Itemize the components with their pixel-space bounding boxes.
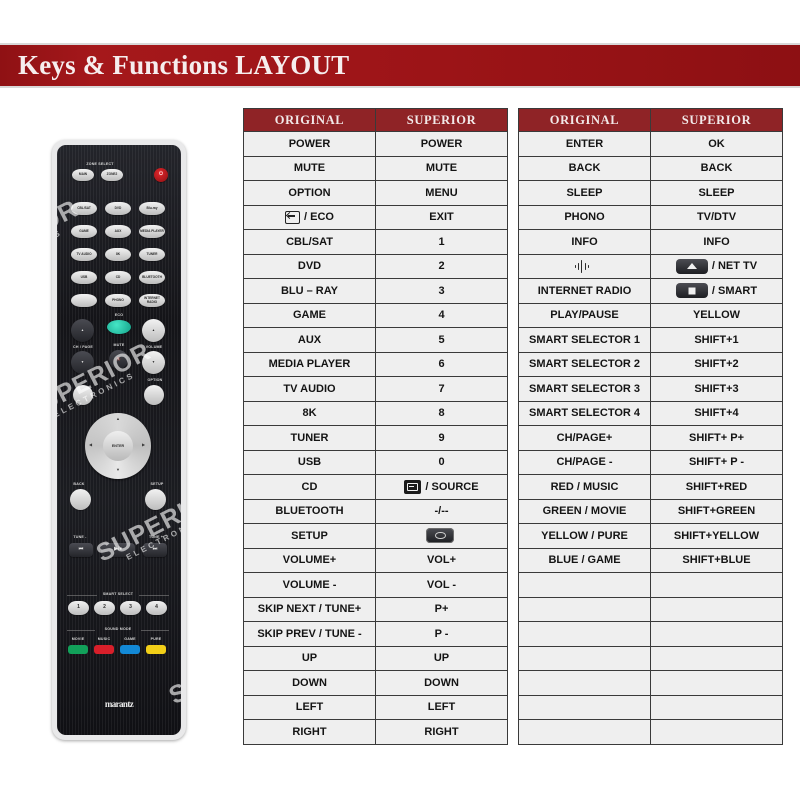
cell-superior: 2 (376, 254, 508, 279)
table-row: RIGHTRIGHT (244, 720, 508, 745)
remote-back-label: BACK (66, 482, 92, 486)
remote-ch-page-down-button[interactable]: ▼ (71, 351, 94, 374)
cell-superior: SHIFT+ P - (651, 450, 783, 475)
remote-face: ZONE SELECT MAIN ZONE2 ⏻ CBL/SAT DVD Blu… (57, 145, 181, 735)
cell-superior-text: DOWN (424, 677, 459, 689)
cell-original-text: VOLUME - (283, 579, 337, 591)
cell-original (519, 597, 651, 622)
cell-superior: YELLOW (651, 303, 783, 328)
remote-smart-select-1[interactable]: 1 (68, 601, 89, 615)
remote-mute-label: MUTE (105, 343, 133, 347)
remote-sound-mode-pure-button[interactable] (146, 645, 166, 654)
remote-eco-label: ECO (106, 313, 132, 317)
cell-original: TUNER (244, 426, 376, 451)
cell-original (519, 622, 651, 647)
dpad-left-icon[interactable]: ◀ (89, 443, 92, 447)
remote-setup-button[interactable] (145, 489, 166, 510)
cell-original-text: UP (302, 652, 317, 664)
cell-original-text: / ECO (304, 211, 334, 223)
table-row: PLAY/PAUSEYELLOW (519, 303, 783, 328)
cell-original: SLEEP (519, 181, 651, 206)
cell-original-text: SMART SELECTOR 1 (529, 334, 640, 346)
source-filled-icon (404, 480, 421, 494)
cell-superior-text: SHIFT+1 (694, 334, 738, 346)
cell-superior-text: SHIFT+BLUE (682, 554, 750, 566)
cell-superior-text: INFO (703, 236, 729, 248)
remote-sound-mode-movie-button[interactable] (68, 645, 88, 654)
remote-button-8k[interactable]: 8K (105, 248, 131, 261)
cell-superior: SHIFT+BLUE (651, 548, 783, 573)
cell-original: RED / MUSIC (519, 475, 651, 500)
source-outline-icon (285, 211, 300, 224)
cell-original: INTERNET RADIO (519, 279, 651, 304)
table-row: VOLUME+VOL+ (244, 548, 508, 573)
cell-superior-text: / SOURCE (425, 481, 478, 493)
table-row: BLU – RAY3 (244, 279, 508, 304)
table-row (519, 646, 783, 671)
cell-superior-text: / NET TV (712, 260, 757, 272)
table-row: POWERPOWER (244, 132, 508, 157)
table-row: OPTIONMENU (244, 181, 508, 206)
cell-superior-text: SHIFT+3 (694, 383, 738, 395)
cell-original-text: MEDIA PLAYER (269, 358, 351, 370)
remote-button-internet-radio[interactable]: INTERNET RADIO (139, 294, 165, 307)
remote-control-image: ZONE SELECT MAIN ZONE2 ⏻ CBL/SAT DVD Blu… (52, 140, 186, 740)
dpad-up-icon[interactable]: ▲ (116, 417, 120, 421)
table-row: INTERNET RADIO/ SMART (519, 279, 783, 304)
table-row: 8K8 (244, 401, 508, 426)
cell-original-text: SMART SELECTOR 2 (529, 358, 640, 370)
remote-volume-label: VOLUME (139, 345, 169, 349)
table-row: TV AUDIO7 (244, 377, 508, 402)
remote-sound-mode-game-button[interactable] (120, 645, 140, 654)
remote-button-tv-audio[interactable]: TV AUDIO (71, 248, 97, 261)
cell-original: SMART SELECTOR 3 (519, 377, 651, 402)
cell-superior-text: SHIFT+4 (694, 407, 738, 419)
cell-superior-text: 1 (438, 236, 444, 248)
key-triangle-icon (676, 259, 708, 274)
table-row: PHONOTV/DTV (519, 205, 783, 230)
cell-superior: RIGHT (376, 720, 508, 745)
remote-button-phono[interactable]: PHONO (105, 294, 131, 307)
remote-button-tuner[interactable]: TUNER (139, 248, 165, 261)
cell-superior-text: / SMART (712, 285, 757, 297)
cell-original-text: BLUETOOTH (275, 505, 343, 517)
cell-superior-text: OK (708, 138, 725, 150)
cell-superior-text: P - (435, 628, 449, 640)
table-left-body: POWERPOWERMUTEMUTEOPTIONMENU/ ECOEXITCBL… (244, 132, 508, 745)
cell-original: TV AUDIO (244, 377, 376, 402)
remote-tune-minus-label: TUNE - (67, 535, 93, 539)
cell-superior-text: 4 (438, 309, 444, 321)
table-header-row: ORIGINAL SUPERIOR (519, 109, 783, 132)
cell-original-text: DOWN (292, 677, 327, 689)
remote-volume-down-button[interactable]: ▼ (142, 351, 165, 374)
cell-superior: 7 (376, 377, 508, 402)
cell-superior-text: SHIFT+ P - (689, 456, 744, 468)
table-row: UPUP (244, 646, 508, 671)
table-row: SKIP PREV / TUNE -P - (244, 622, 508, 647)
table-row (519, 671, 783, 696)
cell-original (519, 573, 651, 598)
cell-original-text: GREEN / MOVIE (543, 505, 627, 517)
cell-superior (651, 573, 783, 598)
table-row: SETUP (244, 524, 508, 549)
table-row: SMART SELECTOR 2SHIFT+2 (519, 352, 783, 377)
table-row: SKIP NEXT / TUNE+P+ (244, 597, 508, 622)
cell-superior: MENU (376, 181, 508, 206)
cell-original-text: MUTE (294, 162, 325, 174)
table-row: / ECOEXIT (244, 205, 508, 230)
key-square-icon (676, 283, 708, 298)
cell-superior: SHIFT+1 (651, 328, 783, 353)
cell-original: POWER (244, 132, 376, 157)
cell-superior-text: 6 (438, 358, 444, 370)
cell-superior: SHIFT+2 (651, 352, 783, 377)
cell-original: BLUE / GAME (519, 548, 651, 573)
mic-levels-icon (575, 260, 591, 273)
cell-original-text: CBL/SAT (286, 236, 333, 248)
cell-original: CH/PAGE+ (519, 426, 651, 451)
cell-original (519, 695, 651, 720)
table-row: USB0 (244, 450, 508, 475)
remote-tune-plus-label: TUNE + (143, 535, 169, 539)
cell-superior: 1 (376, 230, 508, 255)
cell-original: MUTE (244, 156, 376, 181)
remote-back-button[interactable] (70, 489, 91, 510)
cell-original-text: BLUE / GAME (548, 554, 620, 566)
cell-original: YELLOW / PURE (519, 524, 651, 549)
cell-superior: 6 (376, 352, 508, 377)
cell-original: BLU – RAY (244, 279, 376, 304)
cell-superior: VOL - (376, 573, 508, 598)
dpad-down-icon[interactable]: ▼ (116, 468, 120, 472)
cell-original-text: INFO (571, 236, 597, 248)
cell-superior-text: BACK (701, 162, 733, 174)
remote-button-bluetooth[interactable]: BLUETOOTH (139, 271, 165, 284)
cell-original-text: INTERNET RADIO (538, 285, 632, 297)
cell-superior: 9 (376, 426, 508, 451)
remote-ch-page-up-button[interactable]: ▲ (71, 319, 94, 342)
cell-superior-text: VOL+ (427, 554, 456, 566)
cell-superior (651, 597, 783, 622)
table-row: CH/PAGE -SHIFT+ P - (519, 450, 783, 475)
cell-superior (651, 720, 783, 745)
cell-original-text: BLU – RAY (281, 285, 338, 297)
remote-smart-select-label: SMART SELECT (95, 592, 141, 596)
cell-original-text: SKIP PREV / TUNE - (257, 628, 361, 640)
table-right-body: ENTEROKBACKBACKSLEEPSLEEPPHONOTV/DTVINFO… (519, 132, 783, 745)
remote-button-media-player[interactable]: MEDIA PLAYER (139, 225, 165, 238)
cell-original: DVD (244, 254, 376, 279)
remote-button-main[interactable]: MAIN (72, 169, 94, 181)
cell-superior-text: 5 (438, 334, 444, 346)
remote-button-usb[interactable]: USB (71, 271, 97, 284)
remote-ch-page-label: CH / PAGE (68, 345, 98, 349)
cell-superior-text: YELLOW (693, 309, 740, 321)
cell-superior: SHIFT+YELLOW (651, 524, 783, 549)
table-row: DOWNDOWN (244, 671, 508, 696)
cell-original-text: AUX (298, 334, 321, 346)
remote-button-cd[interactable]: CD (105, 271, 131, 284)
remote-smart-select-2[interactable]: 2 (94, 601, 115, 615)
page-header-banner: Keys & Functions LAYOUT (0, 43, 800, 88)
cell-original: RIGHT (244, 720, 376, 745)
remote-mute-button[interactable]: 🔇 (109, 350, 128, 369)
cell-original: PLAY/PAUSE (519, 303, 651, 328)
cell-superior-text: P+ (435, 603, 449, 615)
cell-superior (376, 524, 508, 549)
cell-original: DOWN (244, 671, 376, 696)
table-row (519, 597, 783, 622)
cell-original-text: RED / MUSIC (551, 481, 619, 493)
table-row: INFOINFO (519, 230, 783, 255)
remote-sound-mode-game-label: GAME (118, 637, 142, 641)
remote-smart-select-3[interactable]: 3 (120, 601, 141, 615)
remote-body: ZONE SELECT MAIN ZONE2 ⏻ CBL/SAT DVD Blu… (52, 140, 186, 740)
cell-superior: BACK (651, 156, 783, 181)
table-row: BACKBACK (519, 156, 783, 181)
cell-original (519, 720, 651, 745)
remote-option-button[interactable] (144, 385, 164, 405)
table-row: DVD2 (244, 254, 508, 279)
cell-original-text: CH/PAGE+ (557, 432, 613, 444)
cell-superior: TV/DTV (651, 205, 783, 230)
cell-superior (651, 695, 783, 720)
cell-superior-text: -/-- (434, 505, 448, 517)
cell-superior-text: SHIFT+YELLOW (674, 530, 759, 542)
table-row: CH/PAGE+SHIFT+ P+ (519, 426, 783, 451)
cell-superior (651, 622, 783, 647)
table-row: / NET TV (519, 254, 783, 279)
table-row: GREEN / MOVIESHIFT+GREEN (519, 499, 783, 524)
cell-superior: P+ (376, 597, 508, 622)
remote-smart-select-4[interactable]: 4 (146, 601, 167, 615)
column-header-original: ORIGINAL (519, 109, 651, 132)
table-row: SMART SELECTOR 4SHIFT+4 (519, 401, 783, 426)
cell-original: SMART SELECTOR 2 (519, 352, 651, 377)
cell-original: VOLUME - (244, 573, 376, 598)
remote-sound-mode-music-label: MUSIC (92, 637, 116, 641)
cell-superior-text: SHIFT+RED (686, 481, 747, 493)
cell-original: USB (244, 450, 376, 475)
cell-original-text: RIGHT (292, 726, 326, 738)
cell-superior-text: SHIFT+GREEN (678, 505, 755, 517)
cell-original: UP (244, 646, 376, 671)
cell-original: CH/PAGE - (519, 450, 651, 475)
cell-original: PHONO (519, 205, 651, 230)
cell-superior: / SMART (651, 279, 783, 304)
cell-superior-text: MENU (425, 187, 457, 199)
cell-superior-text: EXIT (429, 211, 453, 223)
table-row: GAME4 (244, 303, 508, 328)
cell-superior-text: 2 (438, 260, 444, 272)
setup-key-icon (426, 528, 454, 543)
cell-superior: SLEEP (651, 181, 783, 206)
key-mapping-table-left: ORIGINAL SUPERIOR POWERPOWERMUTEMUTEOPTI… (243, 108, 508, 745)
table-row: AUX5 (244, 328, 508, 353)
remote-button-zone2[interactable]: ZONE2 (101, 169, 123, 181)
cell-superior: LEFT (376, 695, 508, 720)
cell-superior: VOL+ (376, 548, 508, 573)
cell-original: BACK (519, 156, 651, 181)
remote-volume-up-button[interactable]: ▲ (142, 319, 165, 342)
cell-superior: EXIT (376, 205, 508, 230)
cell-superior-text: LEFT (428, 701, 456, 713)
cell-superior: SHIFT+ P+ (651, 426, 783, 451)
table-row: VOLUME -VOL - (244, 573, 508, 598)
cell-superior-text: 7 (438, 383, 444, 395)
remote-button-left-blank[interactable] (73, 385, 93, 405)
cell-original: VOLUME+ (244, 548, 376, 573)
cell-superior: / NET TV (651, 254, 783, 279)
cell-superior: P - (376, 622, 508, 647)
cell-original: SMART SELECTOR 4 (519, 401, 651, 426)
cell-superior: SHIFT+RED (651, 475, 783, 500)
cell-original-text: OPTION (288, 187, 330, 199)
cell-superior: UP (376, 646, 508, 671)
remote-eco-button[interactable] (107, 320, 131, 334)
cell-original-text: YELLOW / PURE (541, 530, 628, 542)
remote-zone-select-label: ZONE SELECT (75, 162, 125, 166)
remote-brand-logo: marantz (57, 699, 181, 709)
cell-original: BLUETOOTH (244, 499, 376, 524)
cell-original: / ECO (244, 205, 376, 230)
remote-power-button[interactable]: ⏻ (154, 168, 168, 182)
cell-original-text: SKIP NEXT / TUNE+ (258, 603, 361, 615)
cell-original: CD (244, 475, 376, 500)
cell-superior-text: SHIFT+2 (694, 358, 738, 370)
cell-superior: SHIFT+4 (651, 401, 783, 426)
cell-original: SETUP (244, 524, 376, 549)
cell-original-text: POWER (289, 138, 331, 150)
remote-button-game[interactable]: GAME (71, 225, 97, 238)
cell-original-text: TUNER (291, 432, 329, 444)
key-mapping-table-right: ORIGINAL SUPERIOR ENTEROKBACKBACKSLEEPSL… (518, 108, 783, 745)
table-row: MUTEMUTE (244, 156, 508, 181)
table-header-row: ORIGINAL SUPERIOR (244, 109, 508, 132)
cell-superior: SHIFT+3 (651, 377, 783, 402)
table-row: MEDIA PLAYER6 (244, 352, 508, 377)
cell-original: 8K (244, 401, 376, 426)
table-row: CBL/SAT1 (244, 230, 508, 255)
cell-superior-text: UP (434, 652, 449, 664)
cell-original (519, 646, 651, 671)
watermark-text-big-4: SUPERIOR (164, 622, 181, 711)
remote-sound-mode-pure-label: PURE (144, 637, 168, 641)
remote-sound-mode-music-button[interactable] (94, 645, 114, 654)
cell-original: GREEN / MOVIE (519, 499, 651, 524)
cell-original-text: LEFT (296, 701, 324, 713)
remote-button-cbl-sat[interactable]: CBL/SAT (71, 202, 97, 215)
cell-original: SMART SELECTOR 1 (519, 328, 651, 353)
table-row: ENTEROK (519, 132, 783, 157)
cell-original-text: CD (302, 481, 318, 493)
cell-superior: POWER (376, 132, 508, 157)
cell-original: LEFT (244, 695, 376, 720)
cell-superior: -/-- (376, 499, 508, 524)
remote-button-dvd[interactable]: DVD (105, 202, 131, 215)
cell-superior: 4 (376, 303, 508, 328)
table-row (519, 622, 783, 647)
cell-original-text: ENTER (566, 138, 603, 150)
cell-original-text: SMART SELECTOR 4 (529, 407, 640, 419)
table-row: RED / MUSICSHIFT+RED (519, 475, 783, 500)
table-row: LEFTLEFT (244, 695, 508, 720)
dpad-right-icon[interactable]: ▶ (142, 443, 145, 447)
cell-superior-text: 0 (438, 456, 444, 468)
cell-original: SKIP NEXT / TUNE+ (244, 597, 376, 622)
cell-superior: 0 (376, 450, 508, 475)
cell-superior (651, 646, 783, 671)
table-row: SLEEPSLEEP (519, 181, 783, 206)
cell-superior (651, 671, 783, 696)
cell-superior: 5 (376, 328, 508, 353)
table-row (519, 695, 783, 720)
remote-sound-mode-label: SOUND MODE (97, 627, 139, 631)
cell-original-text: GAME (293, 309, 326, 321)
cell-superior: DOWN (376, 671, 508, 696)
cell-superior-text: 8 (438, 407, 444, 419)
remote-play-pause-button[interactable]: ▶/⏸ (101, 543, 135, 557)
cell-original-text: VOLUME+ (283, 554, 336, 566)
cell-original: CBL/SAT (244, 230, 376, 255)
cell-superior: OK (651, 132, 783, 157)
table-row: CD/ SOURCE (244, 475, 508, 500)
cell-superior-text: SLEEP (698, 187, 734, 199)
cell-original: GAME (244, 303, 376, 328)
remote-button-bluetooth-2[interactable] (71, 294, 97, 307)
column-header-superior: SUPERIOR (376, 109, 508, 132)
cell-original-text: SLEEP (566, 187, 602, 199)
cell-original-text: BACK (569, 162, 601, 174)
cell-original (519, 671, 651, 696)
table-row: BLUETOOTH-/-- (244, 499, 508, 524)
cell-superior: SHIFT+GREEN (651, 499, 783, 524)
cell-superior: MUTE (376, 156, 508, 181)
cell-original-text: CH/PAGE - (556, 456, 612, 468)
remote-enter-button[interactable]: ENTER (103, 431, 133, 461)
table-row (519, 573, 783, 598)
cell-superior-text: TV/DTV (697, 211, 736, 223)
cell-original-text: TV AUDIO (283, 383, 335, 395)
cell-original: ENTER (519, 132, 651, 157)
table-row: BLUE / GAMESHIFT+BLUE (519, 548, 783, 573)
cell-original-text: SETUP (291, 530, 328, 542)
table-row: SMART SELECTOR 3SHIFT+3 (519, 377, 783, 402)
remote-button-blu-ray[interactable]: Blu-ray (139, 202, 165, 215)
cell-superior-text: SHIFT+ P+ (689, 432, 744, 444)
remote-dpad[interactable]: ▲ ◀ ▶ ▼ ENTER (85, 413, 151, 479)
remote-skip-prev-button[interactable]: ⏮ (69, 543, 93, 557)
cell-original-text: SMART SELECTOR 3 (529, 383, 640, 395)
cell-original: OPTION (244, 181, 376, 206)
remote-skip-next-button[interactable]: ⏭ (143, 543, 167, 557)
remote-option-label: OPTION (139, 378, 171, 382)
cell-original-text: 8K (302, 407, 316, 419)
remote-button-aux[interactable]: AUX (105, 225, 131, 238)
table-row: YELLOW / PURESHIFT+YELLOW (519, 524, 783, 549)
table-row: TUNER9 (244, 426, 508, 451)
cell-original-text: USB (298, 456, 321, 468)
remote-sound-mode-movie-label: MOVIE (66, 637, 90, 641)
cell-original-text: PLAY/PAUSE (550, 309, 618, 321)
table-row: SMART SELECTOR 1SHIFT+1 (519, 328, 783, 353)
cell-original: SKIP PREV / TUNE - (244, 622, 376, 647)
table-row (519, 720, 783, 745)
cell-original-text: DVD (298, 260, 321, 272)
cell-original-text: PHONO (564, 211, 604, 223)
